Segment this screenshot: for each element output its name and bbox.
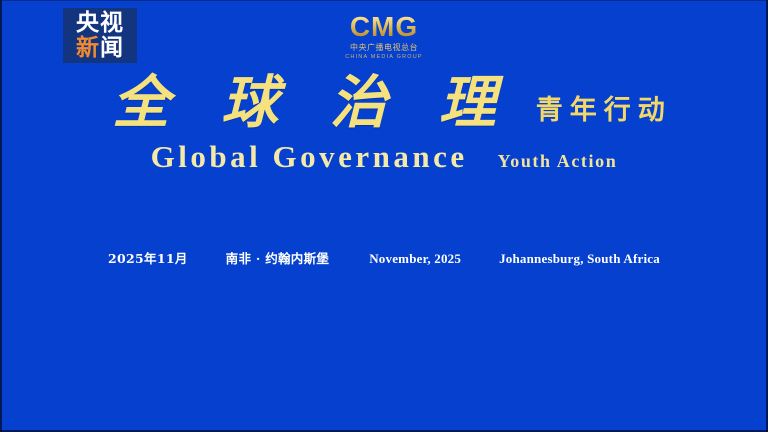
cctv-logo-line-1: 央视 (76, 11, 124, 36)
event-date-chinese: 2025年11月 (108, 251, 188, 267)
event-venue-english: Johannesburg, South Africa (499, 251, 660, 267)
title-row-english: Global Governance Youth Action (0, 140, 768, 174)
event-date-english: November, 2025 (369, 251, 461, 267)
event-venue-chinese: 南非 · 约翰内斯堡 (226, 251, 330, 267)
event-meta-row: 2025年11月 南非 · 约翰内斯堡 November, 2025 Johan… (0, 251, 768, 267)
broadcast-title-card: 央视 新闻 CMG 中央广播电视总台 CHINA MEDIA GROUP 全 球… (0, 0, 768, 432)
title-row-chinese: 全 球 治 理 青年行动 (0, 72, 768, 134)
cmg-wordmark: CMG (350, 12, 418, 42)
title-chinese-sub: 青年行动 (536, 96, 672, 126)
cctv-logo-line-2: 新闻 (76, 36, 124, 61)
cctv-news-logo: 央视 新闻 (63, 8, 137, 63)
frame-edge-left (0, 0, 2, 432)
cctv-logo-char-xin: 新 (76, 35, 100, 61)
frame-edge-top (0, 0, 768, 1)
title-english-sub: Youth Action (498, 150, 618, 172)
title-english-main: Global Governance (151, 140, 468, 174)
cctv-logo-char-wen: 闻 (100, 35, 124, 61)
title-chinese-main: 全 球 治 理 (96, 72, 512, 134)
title-block: 全 球 治 理 青年行动 Global Governance Youth Act… (0, 72, 768, 174)
cmg-english-name: CHINA MEDIA GROUP (345, 53, 423, 61)
cmg-chinese-name: 中央广播电视总台 (350, 43, 418, 53)
